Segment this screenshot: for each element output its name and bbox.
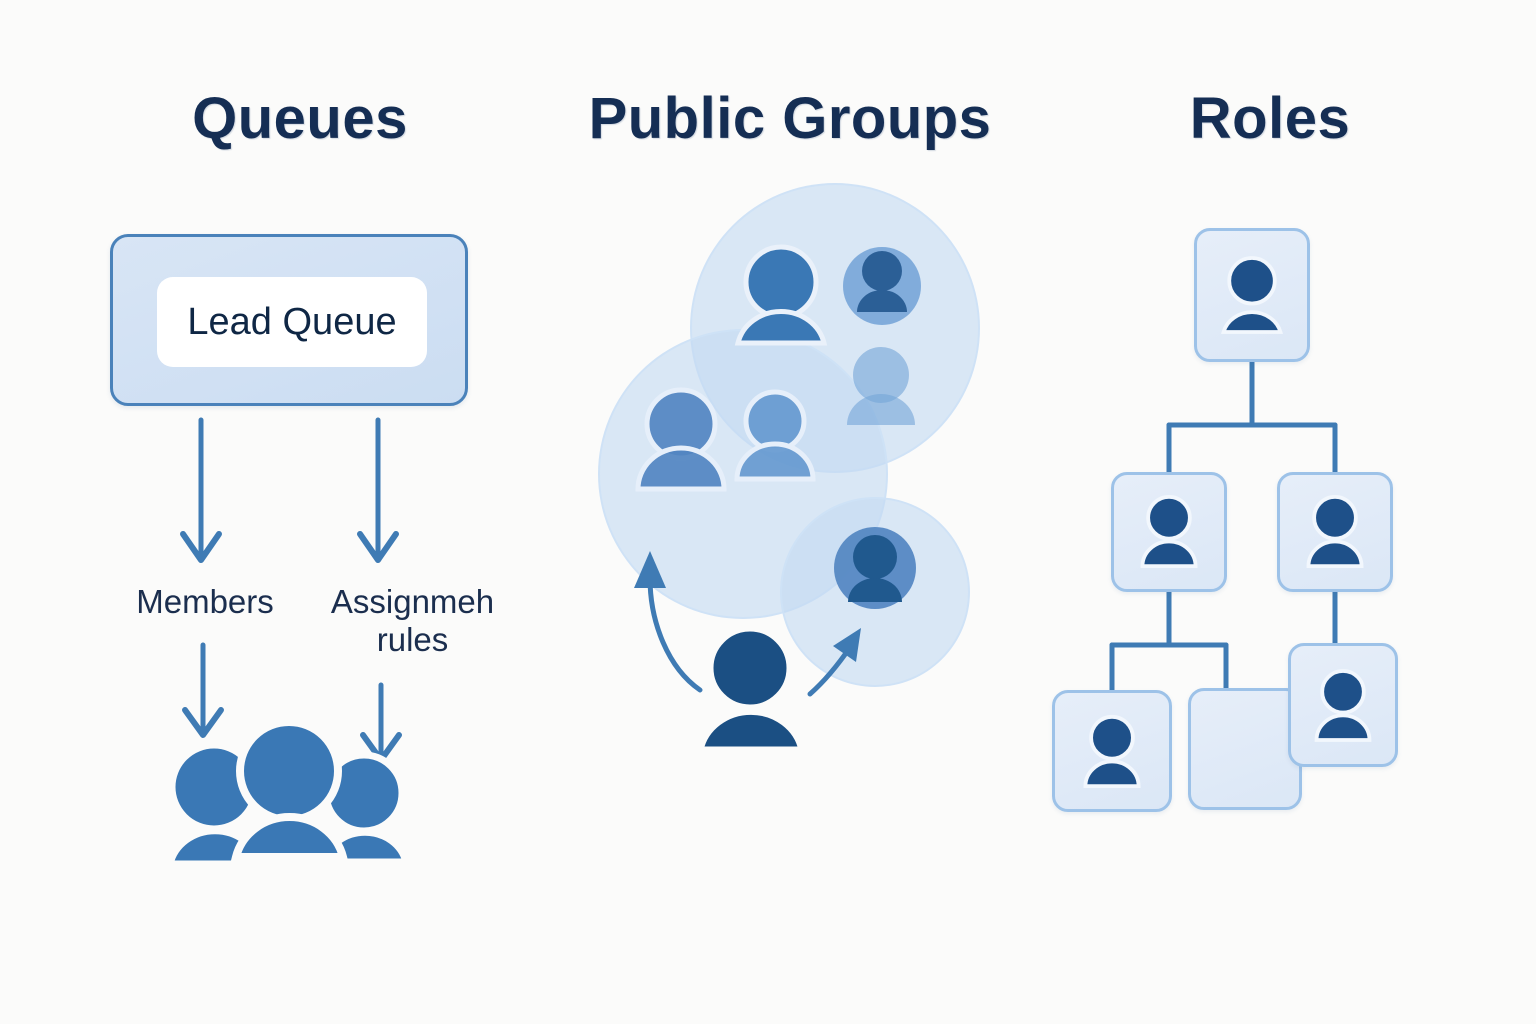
lead-queue-label: Lead Queue	[187, 301, 396, 344]
role-card-level3-b-empty[interactable]	[1188, 688, 1302, 810]
group-avatar-badge-top[interactable]	[843, 247, 921, 325]
role-person-icon	[1280, 475, 1390, 589]
role-person-icon	[1055, 693, 1169, 809]
role-card-level3-c[interactable]	[1288, 643, 1398, 767]
role-person-icon	[1197, 231, 1307, 359]
column-title-roles: Roles	[1010, 85, 1530, 152]
lead-queue-inner-field: Lead Queue	[157, 277, 427, 367]
queue-label-assignment-rules: Assignmeh rules	[300, 583, 525, 659]
role-person-icon	[1291, 646, 1395, 764]
role-card-level2-a[interactable]	[1111, 472, 1227, 592]
people-group-icon	[170, 722, 406, 864]
user-person-icon	[700, 628, 802, 750]
role-person-icon	[1114, 475, 1224, 589]
role-card-root[interactable]	[1194, 228, 1310, 362]
lead-queue-box[interactable]: Lead Queue	[110, 234, 468, 406]
queue-label-members: Members	[90, 583, 320, 621]
diagram-canvas: Queues Public Groups Roles Lead Queue Me…	[0, 0, 1536, 1024]
role-card-level3-a[interactable]	[1052, 690, 1172, 812]
column-title-public-groups: Public Groups	[490, 85, 1090, 152]
group-avatar-badge-small[interactable]	[834, 527, 916, 609]
role-card-level2-b[interactable]	[1277, 472, 1393, 592]
